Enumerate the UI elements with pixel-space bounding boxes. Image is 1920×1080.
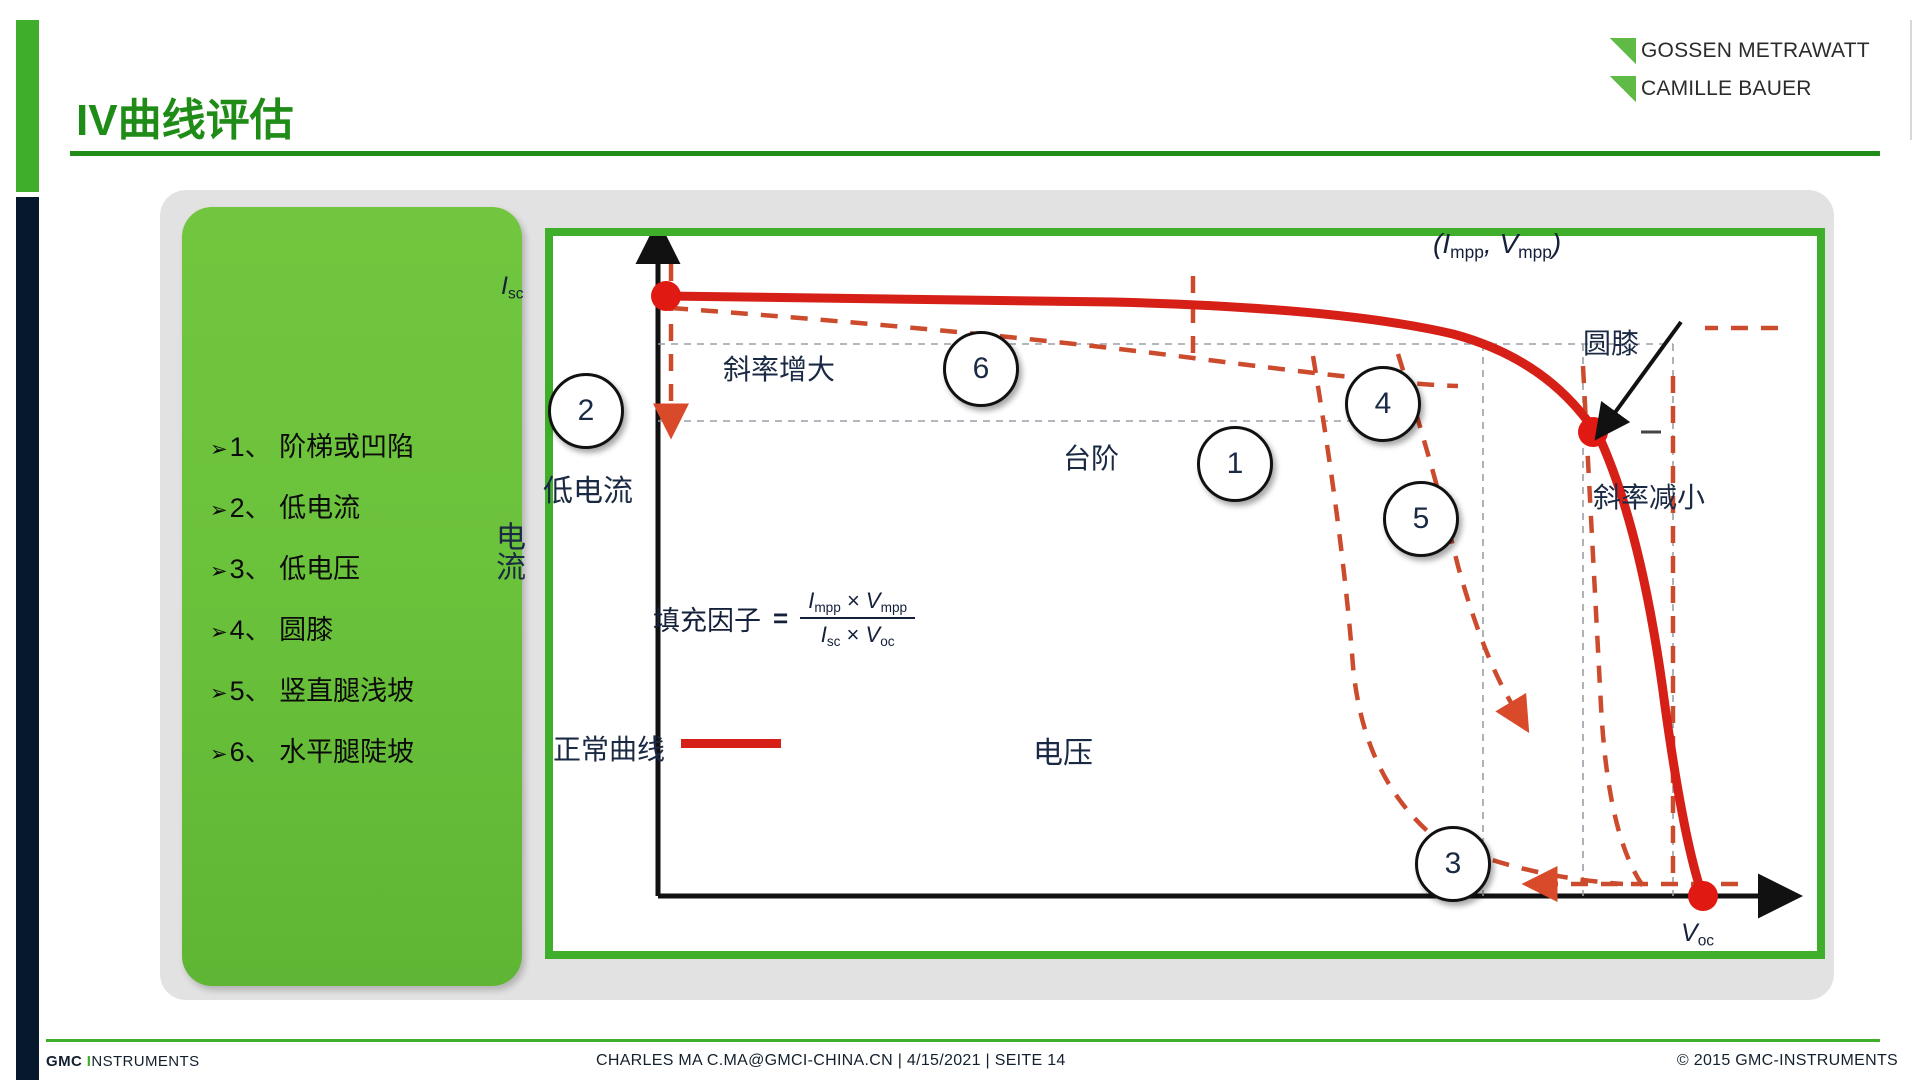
- list-item-label: 4、 圆膝: [230, 608, 334, 647]
- formula-fraction: Impp × Vmpp Isc × Voc: [800, 588, 915, 649]
- round-knee-label: 圆膝: [1583, 322, 1639, 362]
- bullet-arrow-icon: ➢: [210, 500, 228, 521]
- left-accent-bar-green: [16, 20, 39, 192]
- brand-label-camille: CAMILLE BAUER: [1641, 77, 1812, 101]
- bullet-arrow-icon: ➢: [210, 439, 228, 460]
- bullet-arrow-icon: ➢: [210, 622, 228, 643]
- footer-brand-gmc: GMC: [46, 1053, 87, 1070]
- brand-row-camille: CAMILLE BAUER: [1610, 70, 1880, 108]
- bullet-list-panel: ➢ 1、 阶梯或凹陷 ➢ 2、 低电流 ➢ 3、 低电压 ➢ 4、 圆膝 ➢ 5…: [182, 207, 522, 986]
- x-axis-title: 电压: [1033, 728, 1093, 772]
- brand-divider: [1910, 20, 1912, 140]
- bullet-arrow-icon: ➢: [210, 683, 228, 704]
- callout-circle-3[interactable]: 3: [1415, 826, 1491, 902]
- voc-axis-label: Voc: [1681, 919, 1714, 950]
- callout-circle-6[interactable]: 6: [943, 331, 1019, 407]
- footer-brand-instruments: NSTRUMENTS: [91, 1053, 199, 1070]
- list-item: ➢ 6、 水平腿陡坡: [210, 730, 522, 769]
- left-accent-bar-dark: [16, 197, 39, 1080]
- list-item: ➢ 2、 低电流: [210, 486, 522, 525]
- isc-point: [651, 281, 681, 311]
- brand-row-gossen: GOSSEN METRAWATT: [1610, 32, 1880, 70]
- bullet-arrow-icon: ➢: [210, 561, 228, 582]
- list-item: ➢ 4、 圆膝: [210, 608, 522, 647]
- fill-factor-formula: 填充因子 = Impp × Vmpp Isc × Voc: [653, 588, 915, 649]
- list-item-label: 5、 竖直腿浅坡: [230, 669, 415, 708]
- list-item-label: 3、 低电压: [230, 547, 361, 586]
- callout-circle-1[interactable]: 1: [1197, 426, 1273, 502]
- list-item-label: 1、 阶梯或凹陷: [230, 425, 415, 464]
- brand-label-gossen: GOSSEN METRAWATT: [1641, 39, 1870, 63]
- step-label: 台阶: [1063, 437, 1119, 477]
- legend-label: 正常曲线: [553, 728, 665, 768]
- footer-rule: [46, 1039, 1880, 1042]
- list-item: ➢ 3、 低电压: [210, 547, 522, 586]
- low-current-label: 低电流: [543, 466, 633, 510]
- footer-copyright: © 2015 GMC-INSTRUMENTS: [1677, 1052, 1898, 1070]
- footer-center-meta: CHARLES MA C.MA@GMCI-CHINA.CN | 4/15/202…: [596, 1052, 1066, 1070]
- page-title: IV曲线评估: [76, 84, 294, 148]
- bullet-arrow-icon: ➢: [210, 744, 228, 765]
- callout-circle-5[interactable]: 5: [1383, 481, 1459, 557]
- voc-point: [1688, 881, 1718, 911]
- mpp-point: [1578, 417, 1608, 447]
- callout-circle-4[interactable]: 4: [1345, 366, 1421, 442]
- green-triangle-icon: [1610, 38, 1636, 64]
- list-item: ➢ 5、 竖直腿浅坡: [210, 669, 522, 708]
- list-item: ➢ 1、 阶梯或凹陷: [210, 425, 522, 464]
- y-axis-title: 电流: [485, 521, 529, 581]
- legend-swatch-normal-curve: [681, 739, 781, 748]
- formula-equals: =: [773, 603, 788, 634]
- isc-axis-label: Isc: [501, 272, 523, 303]
- green-triangle-icon: [1610, 76, 1636, 102]
- list-item-label: 6、 水平腿陡坡: [230, 730, 415, 769]
- slope-decrease-label: 斜率减小: [1593, 476, 1705, 516]
- iv-curve-chart: Isc Voc (Impp, Vmpp) 圆膝 斜率增大 斜率减小 台阶 低电流…: [545, 228, 1825, 959]
- slope-increase-label: 斜率增大: [723, 348, 835, 388]
- title-underline-rule: [70, 151, 1880, 156]
- formula-denominator: Isc × Voc: [813, 619, 903, 649]
- formula-numerator: Impp × Vmpp: [800, 588, 915, 617]
- footer-brand: GMC INSTRUMENTS: [46, 1053, 200, 1070]
- callout-circle-2[interactable]: 2: [548, 373, 624, 449]
- list-item-label: 2、 低电流: [230, 486, 361, 525]
- formula-left-label: 填充因子: [653, 599, 761, 638]
- mpp-coordinate-label: (Impp, Vmpp): [1433, 228, 1561, 263]
- brand-logo-group: GOSSEN METRAWATT CAMILLE BAUER: [1610, 32, 1880, 108]
